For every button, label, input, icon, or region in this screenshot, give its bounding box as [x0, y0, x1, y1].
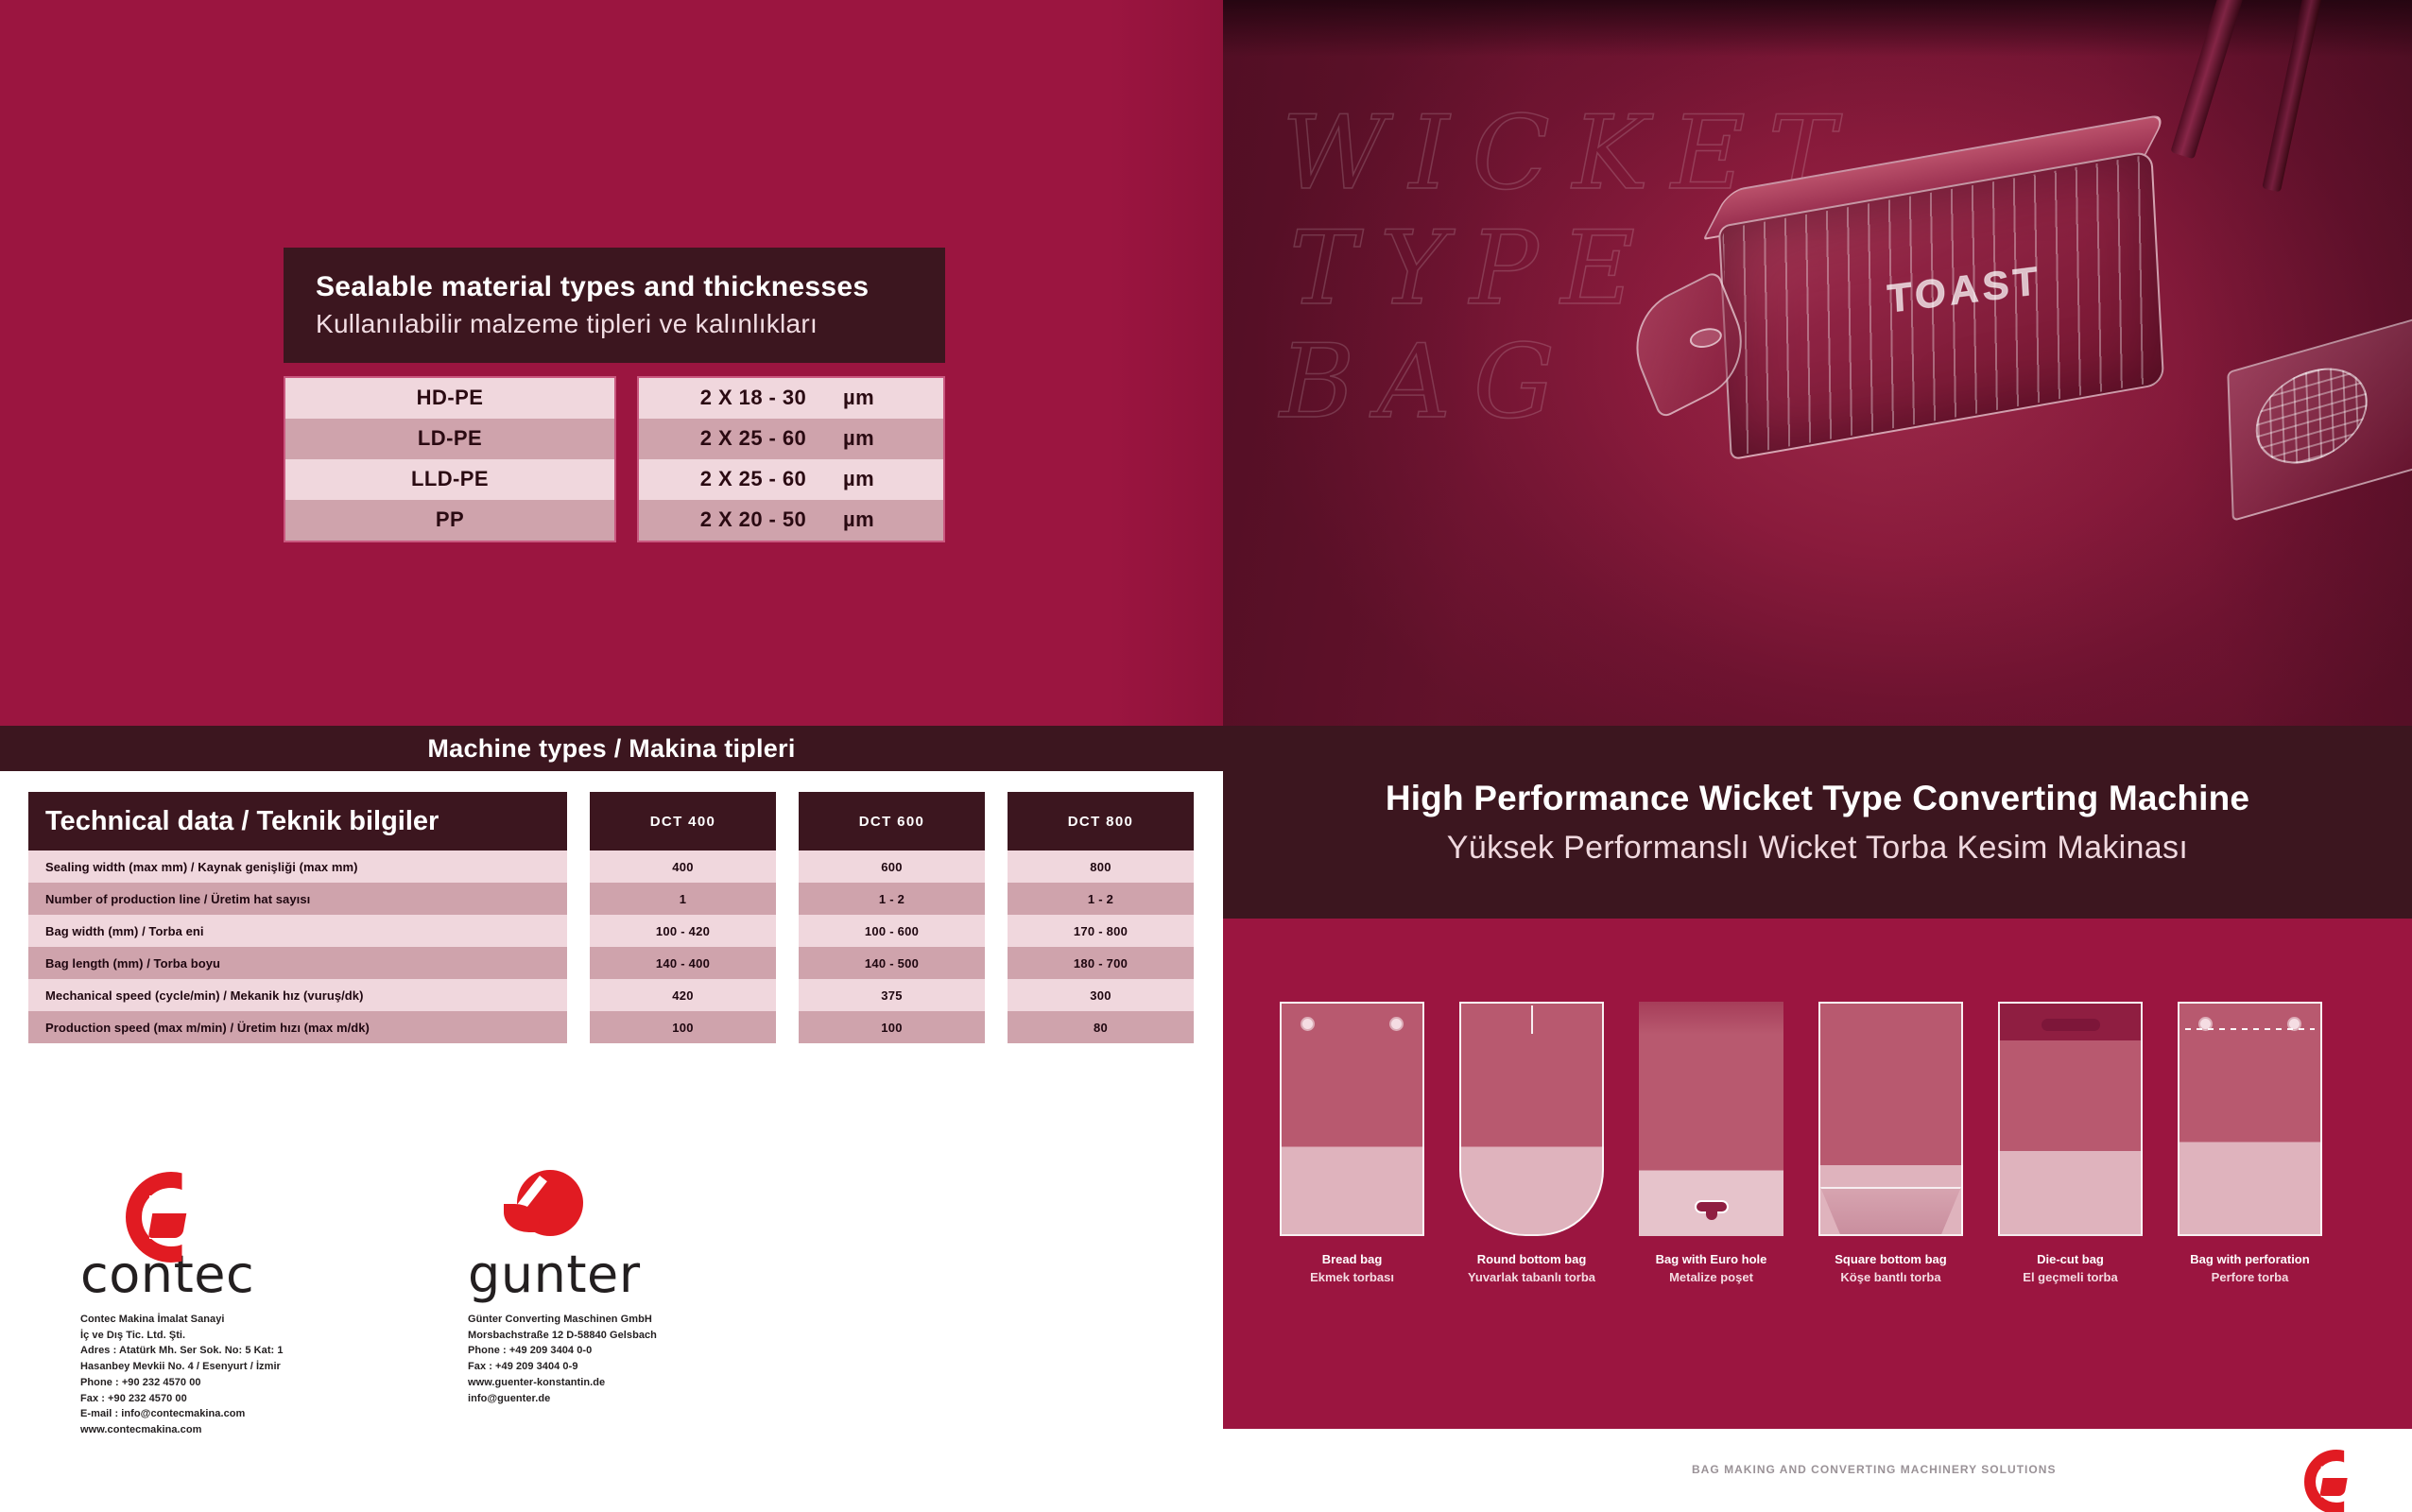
bag-label-en: Square bottom bag — [1818, 1251, 1963, 1269]
technical-header: Technical data / Teknik bilgiler — [28, 792, 567, 850]
model-header: DCT 400 — [590, 792, 776, 850]
table-row: Mechanical speed (cycle/min) / Mekanik h… — [28, 979, 567, 1011]
bag-perforation-grid — [2254, 355, 2369, 477]
technical-row-label: Bag length (mm) / Torba boyu — [45, 956, 220, 971]
technical-value: 800 — [1090, 860, 1111, 874]
technical-value: 1 - 2 — [879, 892, 904, 906]
material-thickness-unit: µm — [843, 386, 919, 410]
address-line: info@guenter.de — [468, 1391, 671, 1407]
technical-value: 1 - 2 — [1088, 892, 1113, 906]
bag-type-bread: Bread bag Ekmek torbası — [1280, 1002, 1424, 1287]
material-table: HD-PE LD-PE LLD-PE PP 2 X 18 - 30 µm 2 X… — [284, 376, 945, 542]
footer-strip: BAG MAKING AND CONVERTING MACHINERY SOLU… — [1223, 1429, 2412, 1512]
euro-hole-bag-icon — [1639, 1002, 1783, 1236]
square-bottom-fold-icon — [1820, 1187, 1961, 1234]
material-thickness-value: 2 X 25 - 60 — [663, 426, 843, 451]
bag-types-panel: Bread bag Ekmek torbası Round bottom bag… — [1223, 919, 2412, 1429]
sealable-material-card: Sealable material types and thicknesses … — [284, 248, 945, 542]
technical-value: 100 — [672, 1021, 693, 1035]
address-line: E-mail : info@contecmakina.com — [80, 1406, 284, 1422]
material-name-column: HD-PE LD-PE LLD-PE PP — [284, 376, 616, 542]
contec-logo — [80, 1172, 284, 1249]
material-thickness-value: 2 X 25 - 60 — [663, 467, 843, 491]
bag-type-euro-hole: Bag with Euro hole Metalize poşet — [1639, 1002, 1783, 1287]
machine-types-label: Machine types / Makina tipleri — [427, 734, 795, 764]
address-line: Contec Makina İmalat Sanayi — [80, 1312, 284, 1328]
bag-twist-closure — [1634, 280, 1744, 410]
technical-value: 600 — [881, 860, 902, 874]
model-header: DCT 600 — [799, 792, 985, 850]
technical-value: 100 - 420 — [656, 924, 710, 938]
material-thickness-value: 2 X 18 - 30 — [663, 386, 843, 410]
model-name: DCT 800 — [1068, 814, 1133, 830]
bag-caption: Bread bag Ekmek torbası — [1280, 1251, 1424, 1287]
table-cell: 400 — [590, 850, 776, 883]
table-cell: 100 — [799, 1011, 985, 1043]
material-name-cell: LLD-PE — [285, 459, 614, 500]
bag-label-en: Die-cut bag — [1998, 1251, 2143, 1269]
table-cell: 1 - 2 — [799, 883, 985, 915]
product-title-tr: Yüksek Performanslı Wicket Torba Kesim M… — [1447, 830, 2188, 867]
table-row: Number of production line / Üretim hat s… — [28, 883, 567, 915]
die-cut-bag-icon — [1998, 1002, 2143, 1236]
table-row: Production speed (max m/min) / Üretim hı… — [28, 1011, 567, 1043]
bag-label-en: Bread bag — [1280, 1251, 1424, 1269]
address-line: Phone : +90 232 4570 00 — [80, 1375, 284, 1391]
brochure-page: WICKET TYPE BAG TOAST Sealable material … — [0, 0, 2412, 1512]
technical-value: 375 — [881, 988, 902, 1003]
table-row: Bag width (mm) / Torba eni — [28, 915, 567, 947]
material-name-cell: LD-PE — [285, 419, 614, 459]
technical-row-label: Bag width (mm) / Torba eni — [45, 924, 204, 938]
table-cell: 100 - 420 — [590, 915, 776, 947]
gunter-address: Günter Converting Maschinen GmbH Morsbac… — [468, 1312, 671, 1406]
bag-label-tr: Perfore torba — [2178, 1269, 2322, 1287]
contec-c-icon — [126, 1172, 184, 1244]
table-row: Bag length (mm) / Torba boyu — [28, 947, 567, 979]
address-line: Fax : +49 209 3404 0-9 — [468, 1359, 671, 1375]
perforation-line-icon — [2185, 1028, 2315, 1030]
bag-type-square-bottom: Square bottom bag Köşe bantlı torba — [1818, 1002, 1963, 1287]
contec-company-block: contec Contec Makina İmalat Sanayi İç ve… — [80, 1172, 284, 1438]
material-thickness-cell: 2 X 20 - 50 µm — [639, 500, 943, 541]
bag-body — [1280, 1002, 1424, 1236]
gunter-logo — [468, 1172, 671, 1249]
address-line: Hasanbey Mevkii No. 4 / Esenyurt / İzmir — [80, 1359, 284, 1375]
contec-footer-logo-icon — [2304, 1450, 2348, 1497]
round-bottom-bag-icon — [1459, 1002, 1604, 1236]
table-cell: 420 — [590, 979, 776, 1011]
technical-row-label: Production speed (max m/min) / Üretim hı… — [45, 1021, 370, 1035]
table-cell: 80 — [1008, 1011, 1194, 1043]
technical-value: 140 - 400 — [656, 956, 710, 971]
euro-hole-icon — [1695, 1200, 1729, 1213]
contec-address: Contec Makina İmalat Sanayi İç ve Dış Ti… — [80, 1312, 284, 1438]
table-cell: 600 — [799, 850, 985, 883]
bag-label-en: Bag with perforation — [2178, 1251, 2322, 1269]
company-logos: contec Contec Makina İmalat Sanayi İç ve… — [80, 1172, 671, 1438]
table-cell: 800 — [1008, 850, 1194, 883]
bag-label-tr: Metalize poşet — [1639, 1269, 1783, 1287]
bag-label-tr: Köşe bantlı torba — [1818, 1269, 1963, 1287]
address-line: www.contecmakina.com — [80, 1422, 284, 1438]
wicket-hole-right-icon — [1391, 1019, 1402, 1029]
bag-caption: Round bottom bag Yuvarlak tabanlı torba — [1459, 1251, 1604, 1287]
address-line: www.guenter-konstantin.de — [468, 1375, 671, 1391]
material-title-tr: Kullanılabilir malzeme tipleri ve kalınl… — [316, 306, 919, 342]
machine-types-bar: Machine types / Makina tipleri — [0, 726, 1223, 771]
technical-value: 100 - 600 — [865, 924, 919, 938]
bag-caption: Square bottom bag Köşe bantlı torba — [1818, 1251, 1963, 1287]
table-cell: 1 - 2 — [1008, 883, 1194, 915]
material-title-en: Sealable material types and thicknesses — [316, 268, 919, 306]
bag-type-die-cut: Die-cut bag El geçmeli torba — [1998, 1002, 2143, 1287]
bag-body — [1818, 1002, 1963, 1236]
footer-tagline: BAG MAKING AND CONVERTING MACHINERY SOLU… — [1692, 1463, 2056, 1476]
bag-type-round-bottom: Round bottom bag Yuvarlak tabanlı torba — [1459, 1002, 1604, 1287]
technical-value: 80 — [1094, 1021, 1108, 1035]
technical-value: 300 — [1090, 988, 1111, 1003]
address-line: Günter Converting Maschinen GmbH — [468, 1312, 671, 1328]
material-thickness-cell: 2 X 25 - 60 µm — [639, 419, 943, 459]
technical-value: 170 - 800 — [1074, 924, 1128, 938]
table-row: Sealing width (max mm) / Kaynak genişliğ… — [28, 850, 567, 883]
table-cell: 100 - 600 — [799, 915, 985, 947]
table-cell: 180 - 700 — [1008, 947, 1194, 979]
bag-seam-icon — [1531, 1005, 1533, 1034]
bag-caption: Bag with perforation Perfore torba — [2178, 1251, 2322, 1287]
bag-label-en: Round bottom bag — [1459, 1251, 1604, 1269]
technical-header-label: Technical data / Teknik bilgiler — [45, 806, 439, 837]
hero-photo-panel: WICKET TYPE BAG TOAST — [1223, 0, 2412, 726]
bag-body — [1459, 1002, 1604, 1236]
gunter-company-block: gunter Günter Converting Maschinen GmbH … — [468, 1172, 671, 1438]
technical-label-column: Technical data / Teknik bilgiler Sealing… — [28, 792, 567, 1043]
gunter-wordmark: gunter — [468, 1249, 671, 1300]
product-title-en: High Performance Wicket Type Converting … — [1386, 779, 2249, 818]
bag-label-en: Bag with Euro hole — [1639, 1251, 1783, 1269]
technical-row-label: Mechanical speed (cycle/min) / Mekanik h… — [45, 988, 364, 1003]
technical-model-column-2: DCT 600 600 1 - 2 100 - 600 140 - 500 37… — [799, 792, 985, 1043]
table-cell: 375 — [799, 979, 985, 1011]
technical-value: 400 — [672, 860, 693, 874]
material-card-header: Sealable material types and thicknesses … — [284, 248, 945, 363]
material-thickness-value: 2 X 20 - 50 — [663, 507, 843, 532]
address-line: Adres : Atatürk Mh. Ser Sok. No: 5 Kat: … — [80, 1343, 284, 1359]
model-name: DCT 600 — [859, 814, 924, 830]
product-title-panel: High Performance Wicket Type Converting … — [1223, 726, 2412, 919]
bag-body — [2178, 1002, 2322, 1236]
technical-row-label: Sealing width (max mm) / Kaynak genişliğ… — [45, 860, 358, 874]
technical-value: 180 - 700 — [1074, 956, 1128, 971]
material-thickness-cell: 2 X 25 - 60 µm — [639, 459, 943, 500]
technical-row-label: Number of production line / Üretim hat s… — [45, 892, 310, 906]
bag-caption: Die-cut bag El geçmeli torba — [1998, 1251, 2143, 1287]
material-thickness-cell: 2 X 18 - 30 µm — [639, 378, 943, 419]
table-cell: 140 - 500 — [799, 947, 985, 979]
wicket-hole-left-icon — [1302, 1019, 1313, 1029]
bag-types-row: Bread bag Ekmek torbası Round bottom bag… — [1280, 1002, 2357, 1287]
table-cell: 140 - 400 — [590, 947, 776, 979]
model-header: DCT 800 — [1008, 792, 1194, 850]
bag-body — [1998, 1002, 2143, 1236]
perforated-bag-icon — [2178, 1002, 2322, 1236]
table-cell: 100 — [590, 1011, 776, 1043]
bag-label-tr: Ekmek torbası — [1280, 1269, 1424, 1287]
model-name: DCT 400 — [650, 814, 715, 830]
material-thickness-unit: µm — [843, 426, 919, 451]
bag-label-tr: El geçmeli torba — [1998, 1269, 2143, 1287]
address-line: İç ve Dış Tic. Ltd. Şti. — [80, 1328, 284, 1344]
bag-type-perforation: Bag with perforation Perfore torba — [2178, 1002, 2322, 1287]
material-name-cell: PP — [285, 500, 614, 541]
bag-caption: Bag with Euro hole Metalize poşet — [1639, 1251, 1783, 1287]
technical-model-column-3: DCT 800 800 1 - 2 170 - 800 180 - 700 30… — [1008, 792, 1194, 1043]
technical-data-table: Technical data / Teknik bilgiler Sealing… — [28, 792, 1223, 1043]
table-cell: 170 - 800 — [1008, 915, 1194, 947]
material-thickness-column: 2 X 18 - 30 µm 2 X 25 - 60 µm 2 X 25 - 6… — [637, 376, 945, 542]
material-name-cell: HD-PE — [285, 378, 614, 419]
technical-value: 140 - 500 — [865, 956, 919, 971]
address-line: Phone : +49 209 3404 0-0 — [468, 1343, 671, 1359]
table-cell: 300 — [1008, 979, 1194, 1011]
bag-label-tr: Yuvarlak tabanlı torba — [1459, 1269, 1604, 1287]
die-cut-handle-icon — [2042, 1019, 2100, 1031]
bread-bag-icon — [1280, 1002, 1424, 1236]
technical-value: 420 — [672, 988, 693, 1003]
address-line: Morsbachstraße 12 D-58840 Gelsbach — [468, 1328, 671, 1344]
square-bottom-bag-icon — [1818, 1002, 1963, 1236]
technical-value: 100 — [881, 1021, 902, 1035]
material-thickness-unit: µm — [843, 467, 919, 491]
technical-value: 1 — [680, 892, 687, 906]
table-cell: 1 — [590, 883, 776, 915]
address-line: Fax : +90 232 4570 00 — [80, 1391, 284, 1407]
technical-model-column-1: DCT 400 400 1 100 - 420 140 - 400 420 10… — [590, 792, 776, 1043]
material-thickness-unit: µm — [843, 507, 919, 532]
bag-body — [1639, 1002, 1783, 1236]
